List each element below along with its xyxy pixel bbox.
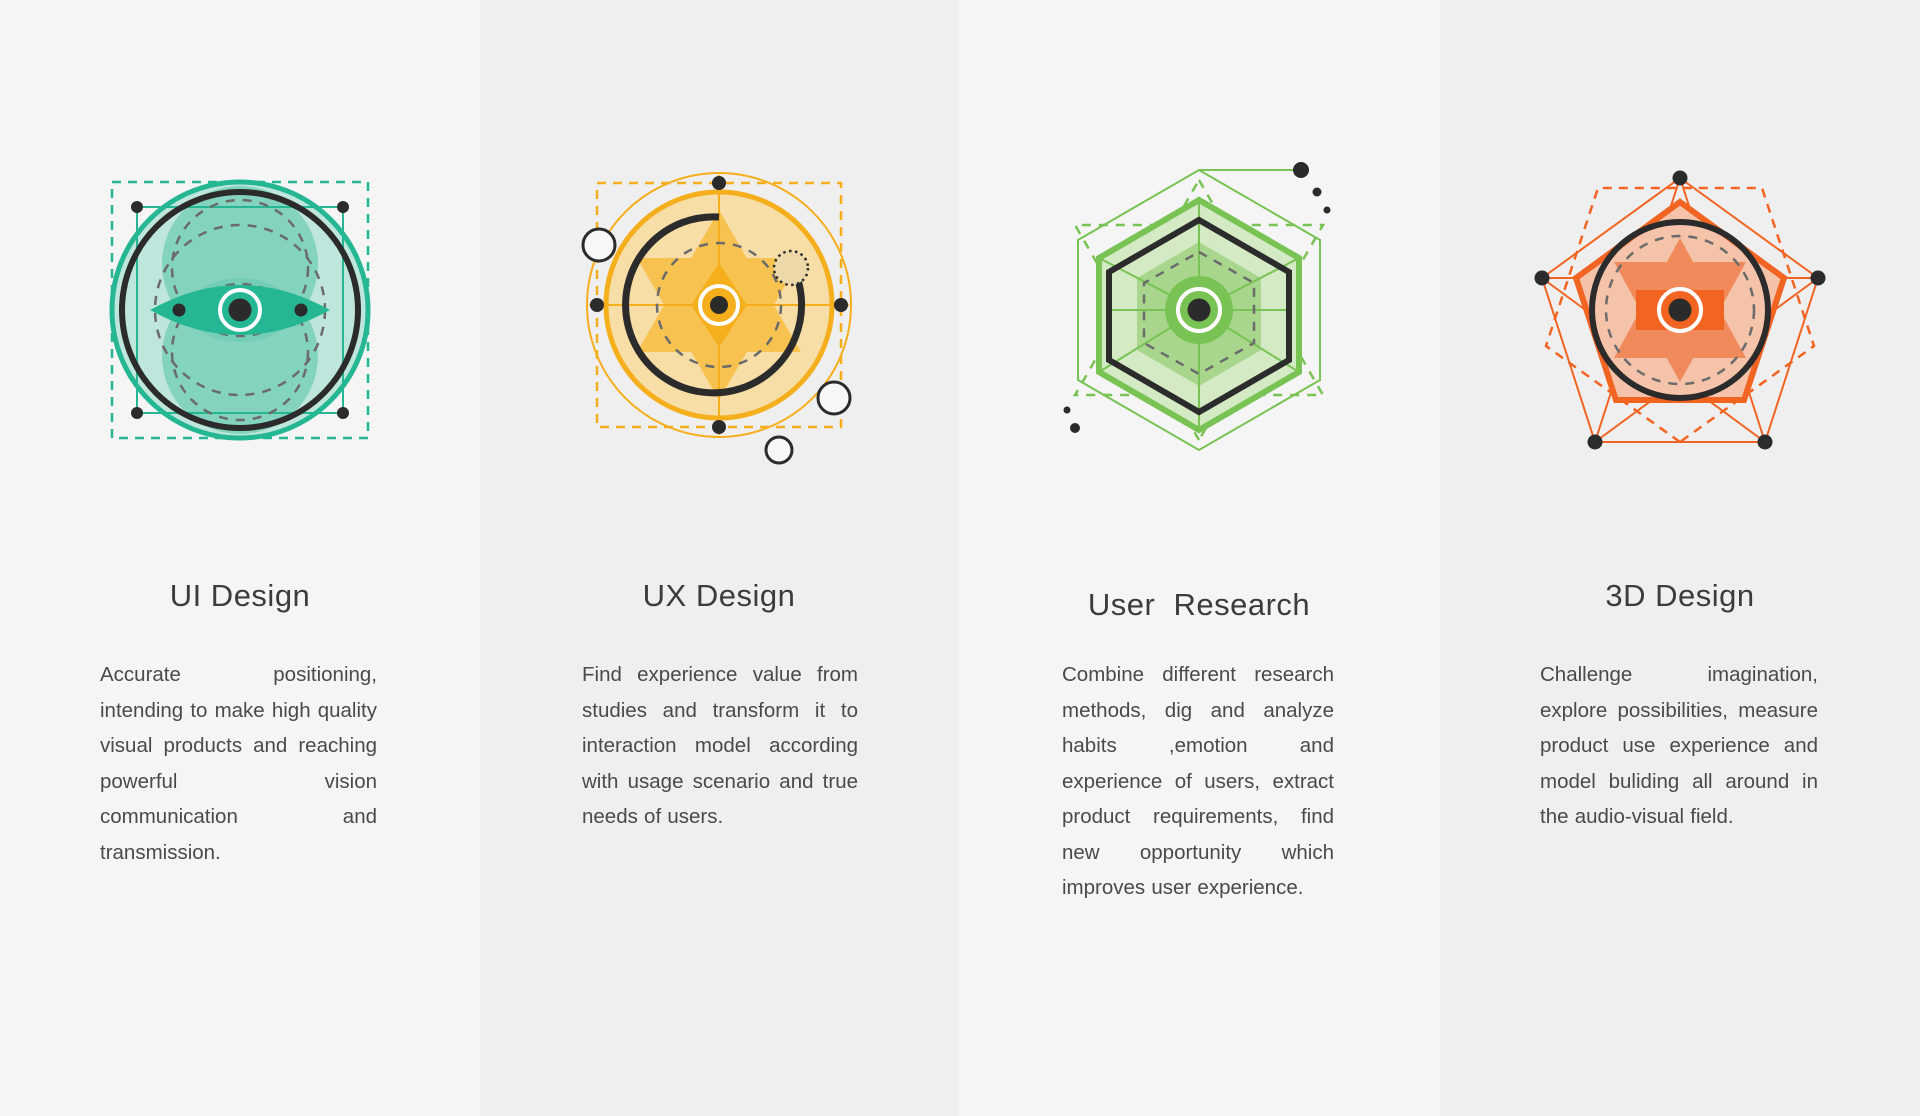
card-ux-design[interactable]: UX Design Find experience value from stu… [480, 0, 958, 1116]
card-ui-design[interactable]: UI Design Accurate positioning, intendin… [0, 0, 480, 1116]
card-body-3d-design: Challenge imagination, explore possibili… [1540, 657, 1818, 835]
three-d-design-geometric-icon [1530, 160, 1830, 460]
page-title-ui-design: UI Design [0, 578, 480, 614]
ux-design-geometric-icon [569, 155, 869, 455]
card-body-ui-design: Accurate positioning, intending to make … [100, 657, 377, 870]
page-title-3d-design: 3D Design [1440, 578, 1920, 614]
card-3d-design[interactable]: 3D Design Challenge imagination, explore… [1440, 0, 1920, 1116]
page-title-ux-design: UX Design [480, 578, 958, 614]
services-board: UI Design Accurate positioning, intendin… [0, 0, 1920, 1116]
card-body-user-research: Combine different research methods, dig … [1062, 657, 1334, 906]
user-research-geometric-icon [1049, 160, 1349, 460]
page-title-user-research: User Research [958, 587, 1440, 623]
card-user-research[interactable]: User Research Combine different research… [958, 0, 1440, 1116]
card-body-ux-design: Find experience value from studies and t… [582, 657, 858, 835]
ui-design-geometric-icon [90, 160, 390, 460]
